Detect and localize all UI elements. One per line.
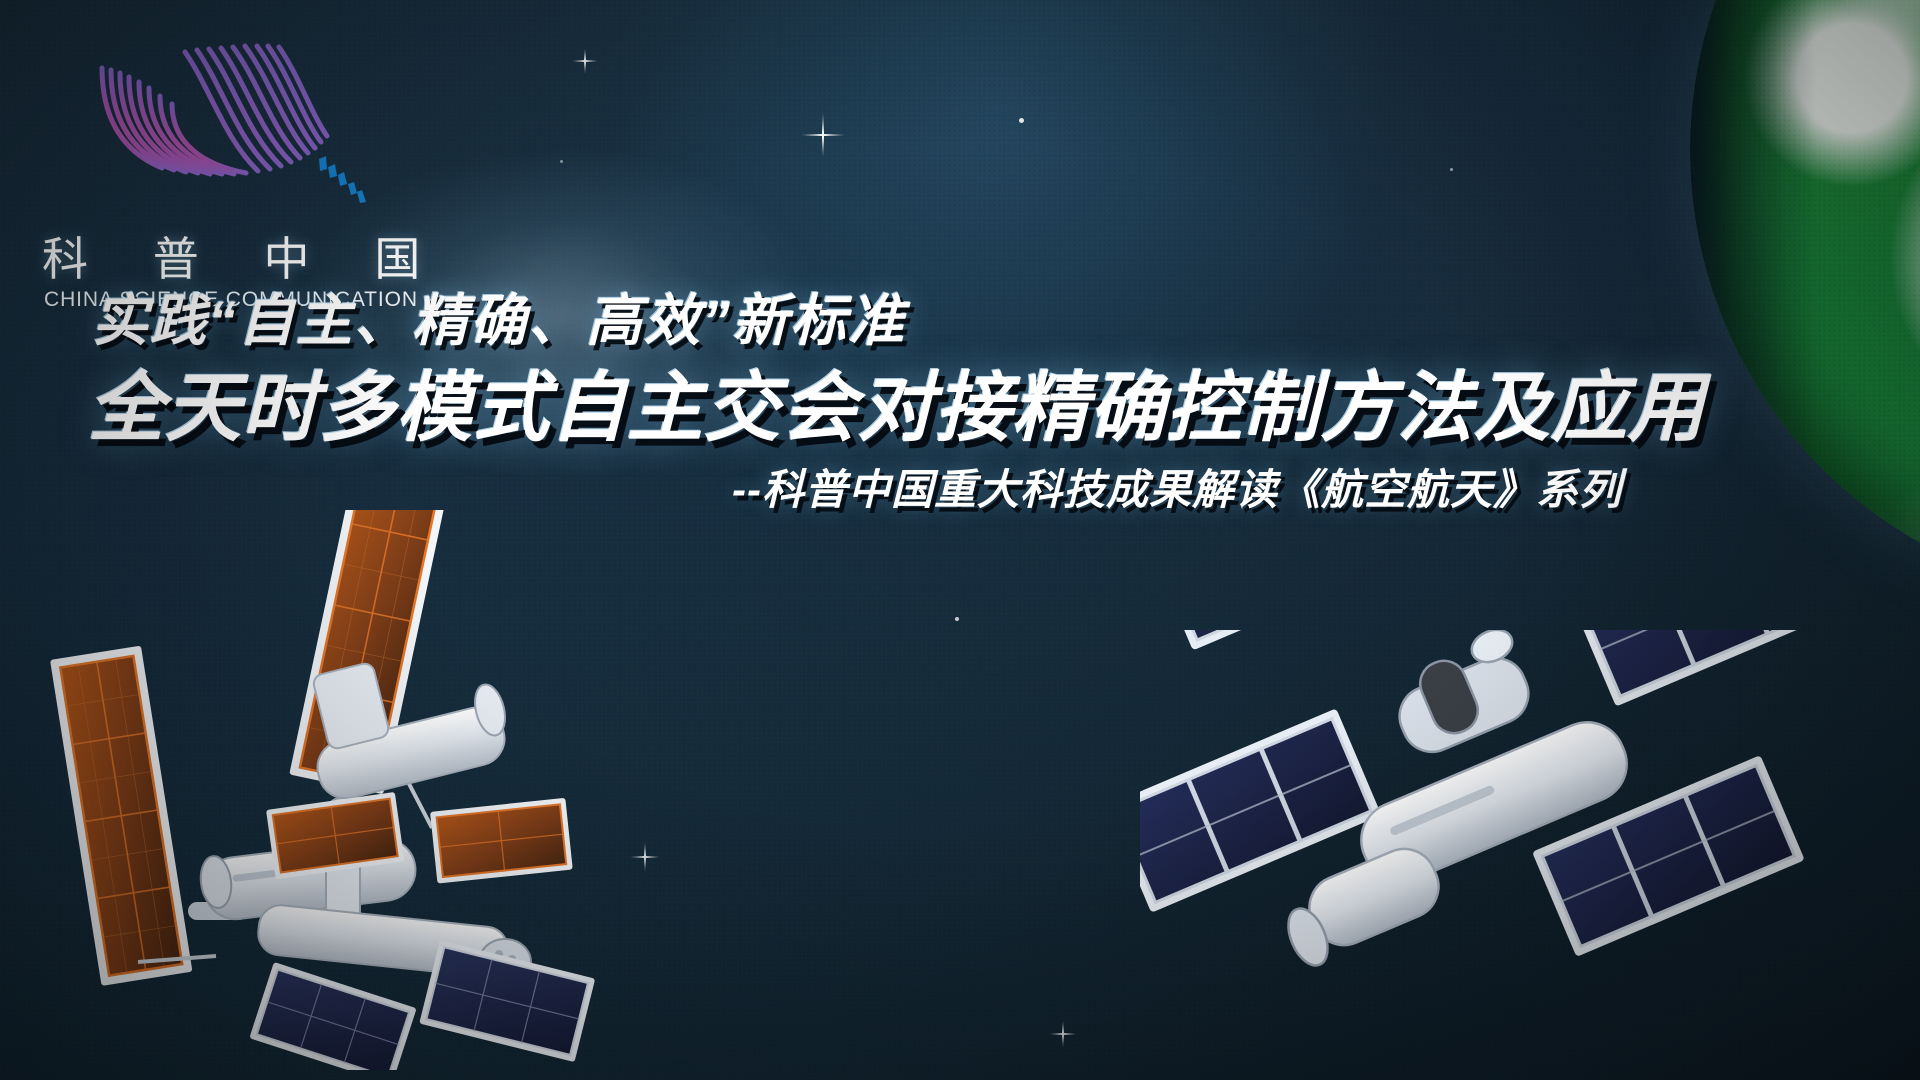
star-sparkle bbox=[1049, 1020, 1077, 1048]
solar-panel bbox=[50, 646, 192, 986]
star-sparkle bbox=[800, 112, 846, 158]
spacecraft-right bbox=[1140, 630, 1880, 1080]
solar-panel-aux bbox=[249, 962, 416, 1070]
headline-primary: 实践“自主、精确、高效”新标准 bbox=[92, 276, 906, 357]
solar-panel bbox=[1146, 630, 1432, 650]
star-dot bbox=[1019, 118, 1024, 123]
space-station-left bbox=[20, 510, 780, 1070]
star-dot bbox=[1450, 168, 1453, 171]
poster-canvas: 科 普 中 国 CHINA SCIENCE COMMUNICATION 实践“自… bbox=[0, 0, 1920, 1080]
star-sparkle bbox=[572, 48, 598, 74]
solar-panel-mid bbox=[430, 798, 573, 884]
solar-panel-aux bbox=[419, 940, 595, 1062]
star-dot bbox=[955, 617, 959, 621]
star-dot bbox=[560, 160, 563, 163]
earth-limb bbox=[1690, 0, 1920, 600]
wave-feather-logo-icon bbox=[98, 40, 398, 230]
brand-logo: 科 普 中 国 CHINA SCIENCE COMMUNICATION bbox=[28, 40, 458, 290]
solar-panel bbox=[1570, 630, 1851, 707]
earth-terminator-shadow bbox=[1690, 0, 1920, 600]
headline-main-title: 全天时多模式自主交会对接精确控制方法及应用 bbox=[88, 346, 1705, 456]
series-subtitle: --科普中国重大科技成果解读《航空航天》系列 bbox=[732, 456, 1622, 517]
